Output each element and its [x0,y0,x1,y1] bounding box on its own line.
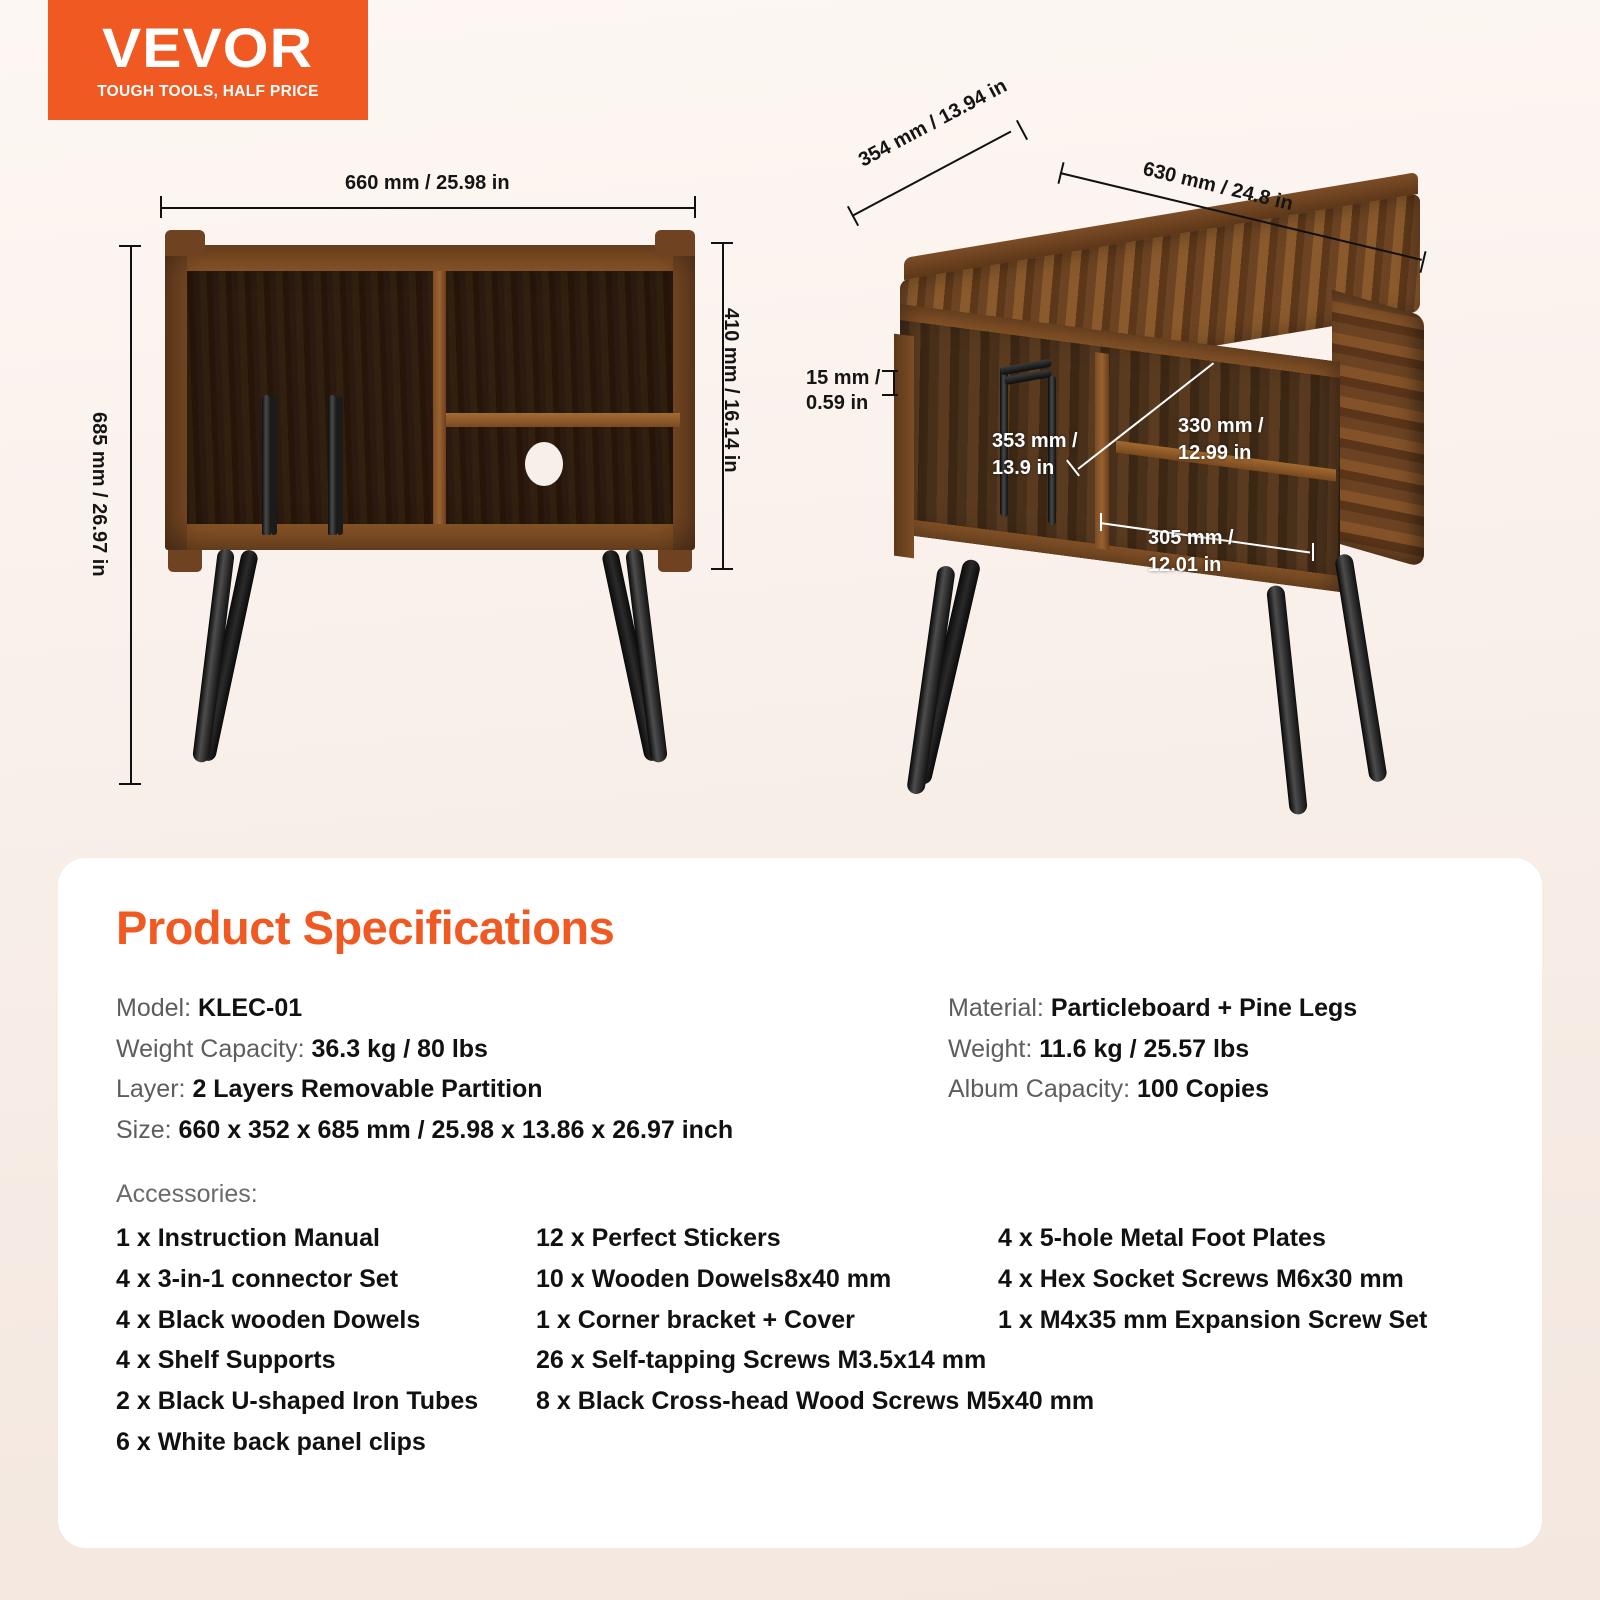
list-item: 26 x Self-tapping Screws M3.5x14 mm [536,1340,1094,1381]
spec-value: 36.3 kg / 80 lbs [311,1035,488,1063]
spec-row: Layer: 2 Layers Removable Partition [116,1069,733,1110]
angle-depth-label: 354 mm / 13.94 in [855,75,1011,173]
upper-right-label-line2: 12.99 in [1178,442,1251,465]
list-item: 8 x Black Cross-head Wood Screws M5x40 m… [536,1381,1094,1422]
front-body-height-cap-bottom [711,568,733,570]
iron-tube-2 [328,395,337,535]
angle-thickness-label-line1: 15 mm / [806,367,880,390]
spec-row: Album Capacity: 100 Copies [948,1069,1357,1110]
front-body-height-label: 410 mm / 16.14 in [719,308,742,473]
spec-label: Size: [116,1116,172,1144]
spec-row: Weight: 11.6 kg / 25.57 lbs [948,1029,1357,1070]
list-item: 6 x White back panel clips [116,1422,478,1463]
spec-row: Material: Particleboard + Pine Legs [948,988,1357,1029]
front-height-cap-bottom [119,783,141,785]
cabinet-right-shelf [446,413,680,427]
cabinet-left-foot-block [168,550,202,572]
product-specifications-card: Product Specifications Model: KLEC-01 We… [58,858,1542,1548]
lower-right-label-line2: 12.01 in [1148,554,1221,577]
spec-label: Weight: [948,1035,1032,1063]
spec-label: Album Capacity: [948,1075,1130,1103]
front-height-rule [130,245,132,785]
front-height-cap-top [119,245,141,247]
list-item: 4 x Shelf Supports [116,1340,478,1381]
list-item: 1 x Instruction Manual [116,1218,478,1259]
cabinet-right-side-panel [1332,290,1424,568]
left-cubby-label-line1: 353 mm / [992,430,1078,453]
angle-thickness-rule [893,370,895,396]
brand-name: VEVOR [102,20,313,76]
page-title: Product Specifications [116,900,614,955]
cable-hole [525,442,563,486]
angled-view-illustration [880,185,1440,805]
cabinet-center-divider [433,271,446,524]
spec-label: Material: [948,994,1044,1022]
iron-tube-1 [262,395,271,535]
cabinet-right-foot-block [658,550,692,572]
spec-label: Model: [116,994,191,1022]
front-body-height-cap-top [711,242,733,244]
front-width-cap-left [160,196,162,218]
spec-value: KLEC-01 [198,994,302,1022]
angle-thickness-cap-bottom [882,394,898,396]
accessories-label: Accessories: [116,1180,258,1209]
leg-angled-front-right [1266,585,1308,816]
front-width-rule [160,207,696,209]
upper-right-label-line1: 330 mm / [1178,415,1264,438]
lower-right-cap-right [1312,543,1314,561]
list-item: 4 x Black wooden Dowels [116,1300,478,1341]
front-width-label: 660 mm / 25.98 in [345,172,510,195]
spec-right-column: Material: Particleboard + Pine Legs Weig… [948,988,1357,1110]
spec-value: Particleboard + Pine Legs [1051,994,1357,1022]
spec-row: Model: KLEC-01 [116,988,733,1029]
front-view-illustration [150,230,710,790]
cabinet-top-right-ear [655,230,695,256]
angle-depth-cap-left [847,206,859,226]
angle-thickness-label-line2: 0.59 in [806,392,868,415]
front-height-label: 685 mm / 26.97 in [87,412,110,577]
lower-right-cap-left [1100,513,1102,531]
spec-label: Weight Capacity: [116,1035,305,1063]
lower-right-label-line1: 305 mm / [1148,527,1234,550]
list-item: 1 x M4x35 mm Expansion Screw Set [998,1300,1427,1341]
cabinet-top-left-ear [165,230,205,256]
cabinet-body-front [165,245,695,550]
leg-angled-back-right [1334,553,1388,783]
iron-tube-shadow-1 [271,397,277,535]
accessories-column-3: 4 x 5-hole Metal Foot Plates 4 x Hex Soc… [998,1218,1427,1340]
iron-tube-shadow-2 [337,397,343,535]
spec-left-column: Model: KLEC-01 Weight Capacity: 36.3 kg … [116,988,733,1150]
list-item: 2 x Black U-shaped Iron Tubes [116,1381,478,1422]
spec-value: 100 Copies [1137,1075,1269,1103]
angle-thickness-cap-top [882,370,898,372]
spec-label: Layer: [116,1075,185,1103]
left-cubby-label-line2: 13.9 in [992,457,1054,480]
vevor-logo: VEVOR TOUGH TOOLS, HALF PRICE [48,0,368,120]
accessories-column-1: 1 x Instruction Manual 4 x 3-in-1 connec… [116,1218,478,1463]
list-item: 4 x Hex Socket Screws M6x30 mm [998,1259,1427,1300]
list-item: 4 x 3-in-1 connector Set [116,1259,478,1300]
spec-row: Size: 660 x 352 x 685 mm / 25.98 x 13.86… [116,1110,733,1151]
cabinet-left-side-panel [894,334,914,559]
spec-value: 11.6 kg / 25.57 lbs [1039,1035,1249,1063]
angle-depth-cap-right [1016,120,1028,140]
spec-value: 660 x 352 x 685 mm / 25.98 x 13.86 x 26.… [179,1116,734,1144]
list-item: 4 x 5-hole Metal Foot Plates [998,1218,1427,1259]
front-width-cap-right [694,196,696,218]
brand-tagline: TOUGH TOOLS, HALF PRICE [97,83,319,101]
spec-row: Weight Capacity: 36.3 kg / 80 lbs [116,1029,733,1070]
spec-value: 2 Layers Removable Partition [192,1075,542,1103]
